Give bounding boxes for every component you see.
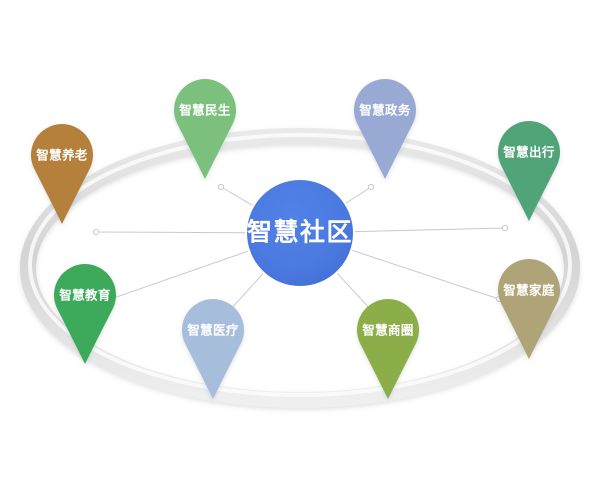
connector-endpoint-dot — [218, 184, 223, 189]
node-government[interactable]: 智慧政务 — [354, 79, 416, 179]
connector-line — [229, 274, 263, 311]
connector-endpoint-dot — [368, 184, 373, 189]
pin-shape — [354, 79, 416, 179]
pin-label: 智慧出行 — [502, 144, 555, 159]
node-education[interactable]: 智慧教育 — [54, 264, 116, 364]
smart-community-diagram: 智慧养老智慧民生智慧政务智慧出行智慧家庭智慧商圈智慧医疗智慧教育 智慧社区 — [0, 0, 600, 480]
pin-shape — [31, 124, 93, 224]
pin-shape — [174, 79, 236, 179]
node-elderly-care[interactable]: 智慧养老 — [31, 124, 93, 224]
connector-endpoint-dot — [93, 229, 98, 234]
pin-shape — [498, 259, 560, 359]
connector-line — [352, 250, 499, 299]
node-livelihood[interactable]: 智慧民生 — [174, 79, 236, 179]
connector-line — [337, 273, 372, 311]
connector-line — [355, 228, 505, 232]
pin-shape — [54, 264, 116, 364]
hub-label: 智慧社区 — [247, 218, 353, 247]
pin-label: 智慧教育 — [58, 287, 111, 302]
connector-endpoint-dot — [502, 225, 507, 230]
hub-node[interactable]: 智慧社区 — [247, 180, 353, 286]
pin-label: 智慧医疗 — [186, 322, 239, 337]
connector-line — [108, 251, 248, 300]
pin-label: 智慧养老 — [35, 147, 88, 162]
diagram-canvas: 智慧养老智慧民生智慧政务智慧出行智慧家庭智慧商圈智慧医疗智慧教育 智慧社区 — [0, 0, 600, 480]
pin-label: 智慧商圈 — [361, 322, 414, 337]
node-smart-home[interactable]: 智慧家庭 — [498, 259, 560, 359]
pin-label: 智慧政务 — [358, 102, 411, 117]
pin-label: 智慧家庭 — [502, 282, 555, 297]
pin-label: 智慧民生 — [178, 102, 231, 117]
connector-line — [346, 187, 371, 203]
connector-line — [221, 187, 252, 205]
connector-line — [96, 232, 245, 233]
